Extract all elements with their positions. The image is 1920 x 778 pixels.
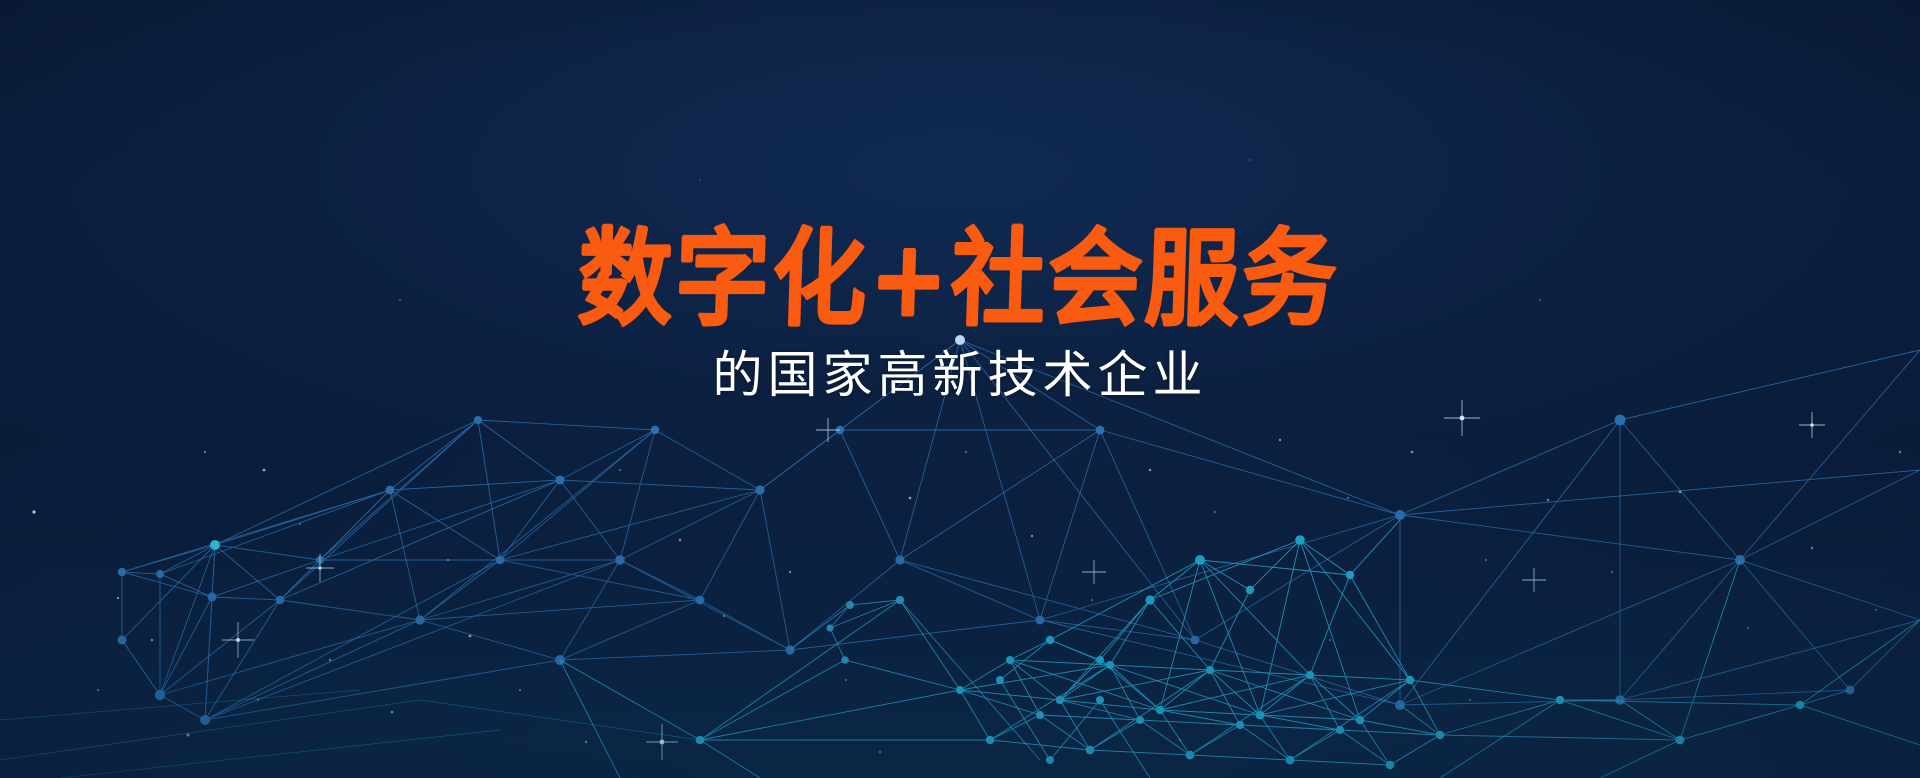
- banner-subtitle: 的国家高新技术企业: [713, 348, 1208, 403]
- hero-banner: 数字化+社会服务 的国家高新技术企业: [0, 0, 1920, 778]
- banner-headline: 数字化+社会服务: [576, 228, 1340, 333]
